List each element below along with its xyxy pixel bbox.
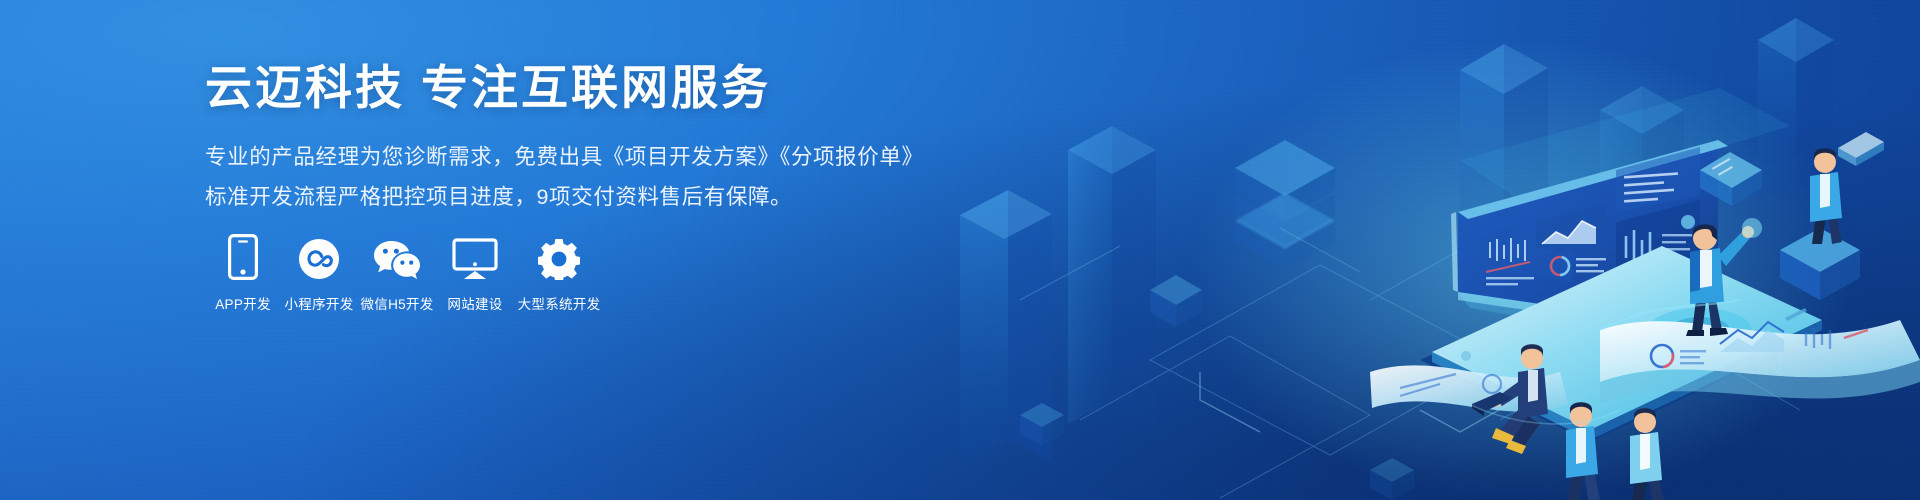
- mini-program-icon: [298, 228, 340, 280]
- service-item-website[interactable]: 网站建设: [437, 228, 513, 313]
- banner-text-block: 云迈科技 专注互联网服务 专业的产品经理为您诊断需求，免费出具《项目开发方案》《…: [205, 62, 925, 214]
- service-item-wechat-h5[interactable]: 微信H5开发: [357, 228, 437, 313]
- service-item-app[interactable]: APP开发: [205, 228, 281, 313]
- service-icon-row: APP开发 小程序开发: [205, 228, 605, 313]
- service-item-large-system[interactable]: 大型系统开发: [513, 228, 605, 313]
- mobile-phone-icon: [228, 228, 258, 280]
- service-item-miniprogram[interactable]: 小程序开发: [281, 228, 357, 313]
- service-label-app: APP开发: [215, 293, 271, 313]
- gear-icon: [538, 228, 580, 280]
- isometric-tech-illustration: [900, 0, 1920, 500]
- subtitle-line-2: 标准开发流程严格把控项目进度，9项交付资料售后有保障。: [205, 180, 925, 214]
- monitor-icon: [452, 228, 498, 280]
- service-label-wechat-h5: 微信H5开发: [360, 293, 433, 313]
- subtitle-line-1: 专业的产品经理为您诊断需求，免费出具《项目开发方案》《分项报价单》: [205, 140, 925, 174]
- page-title: 云迈科技 专注互联网服务: [205, 62, 925, 114]
- banner-subtitle: 专业的产品经理为您诊断需求，免费出具《项目开发方案》《分项报价单》 标准开发流程…: [205, 140, 925, 214]
- service-label-miniprogram: 小程序开发: [285, 293, 354, 313]
- hero-banner: 云迈科技 专注互联网服务 专业的产品经理为您诊断需求，免费出具《项目开发方案》《…: [0, 0, 1920, 500]
- service-label-website: 网站建设: [447, 293, 502, 313]
- wechat-icon: [373, 228, 421, 280]
- service-label-large-system: 大型系统开发: [518, 293, 601, 313]
